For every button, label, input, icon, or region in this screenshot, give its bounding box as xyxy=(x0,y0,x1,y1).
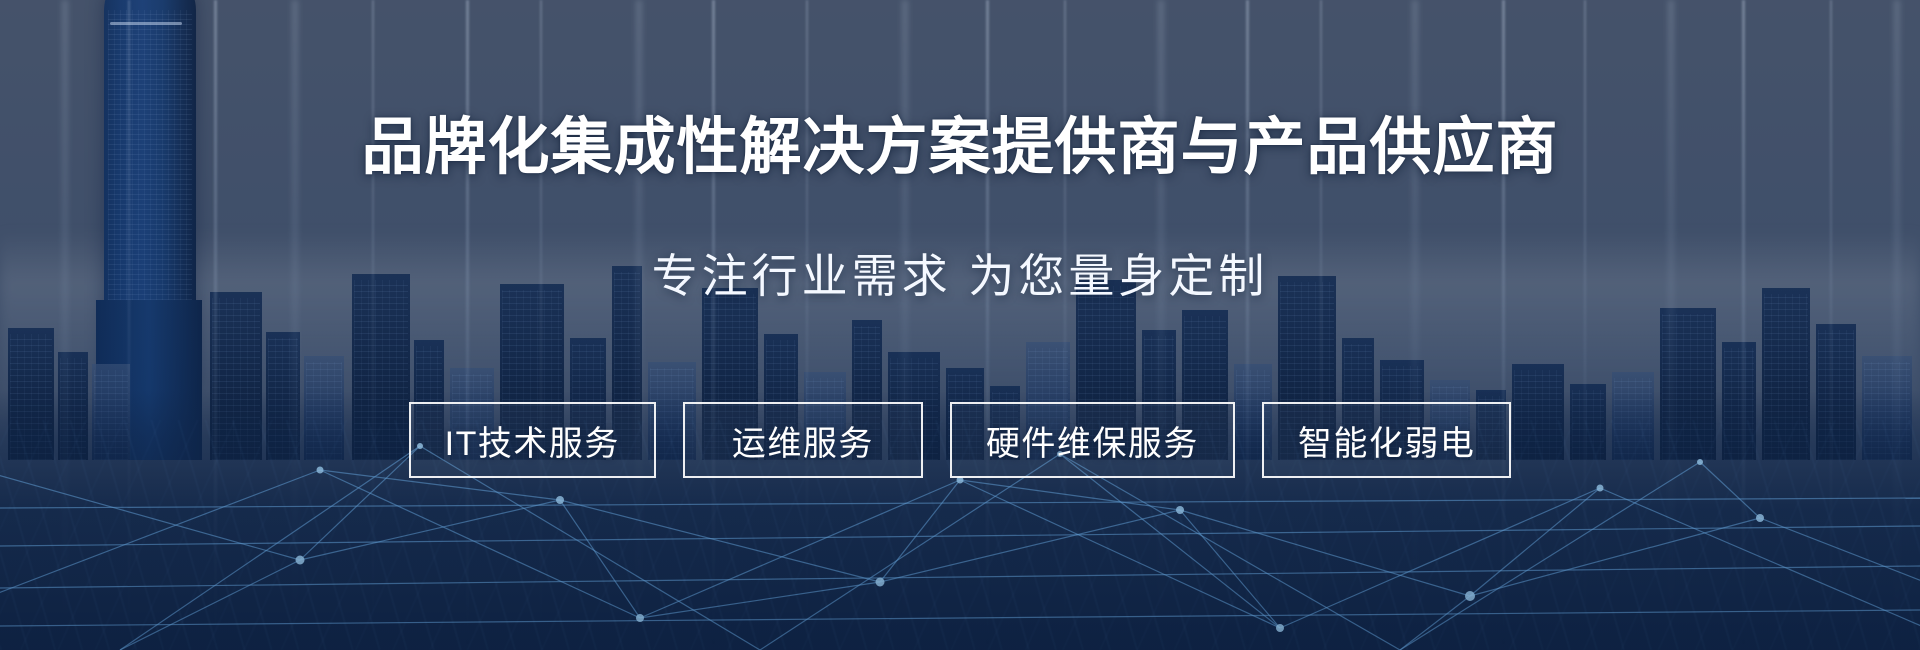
service-button-operations[interactable]: 运维服务 xyxy=(683,402,923,478)
banner-subheadline: 专注行业需求 为您量身定制 xyxy=(0,249,1920,304)
service-button-hardware-maintenance[interactable]: 硬件维保服务 xyxy=(950,402,1235,478)
service-button-intelligent-low-voltage[interactable]: 智能化弱电 xyxy=(1262,402,1512,478)
banner-headline: 品牌化集成性解决方案提供商与产品供应商 xyxy=(0,111,1920,184)
service-button-it-technology[interactable]: IT技术服务 xyxy=(409,402,656,478)
service-button-row: IT技术服务 运维服务 硬件维保服务 智能化弱电 xyxy=(0,402,1920,478)
hero-banner: 品牌化集成性解决方案提供商与产品供应商 专注行业需求 为您量身定制 IT技术服务… xyxy=(0,0,1920,650)
banner-content: 品牌化集成性解决方案提供商与产品供应商 专注行业需求 为您量身定制 IT技术服务… xyxy=(0,0,1920,650)
